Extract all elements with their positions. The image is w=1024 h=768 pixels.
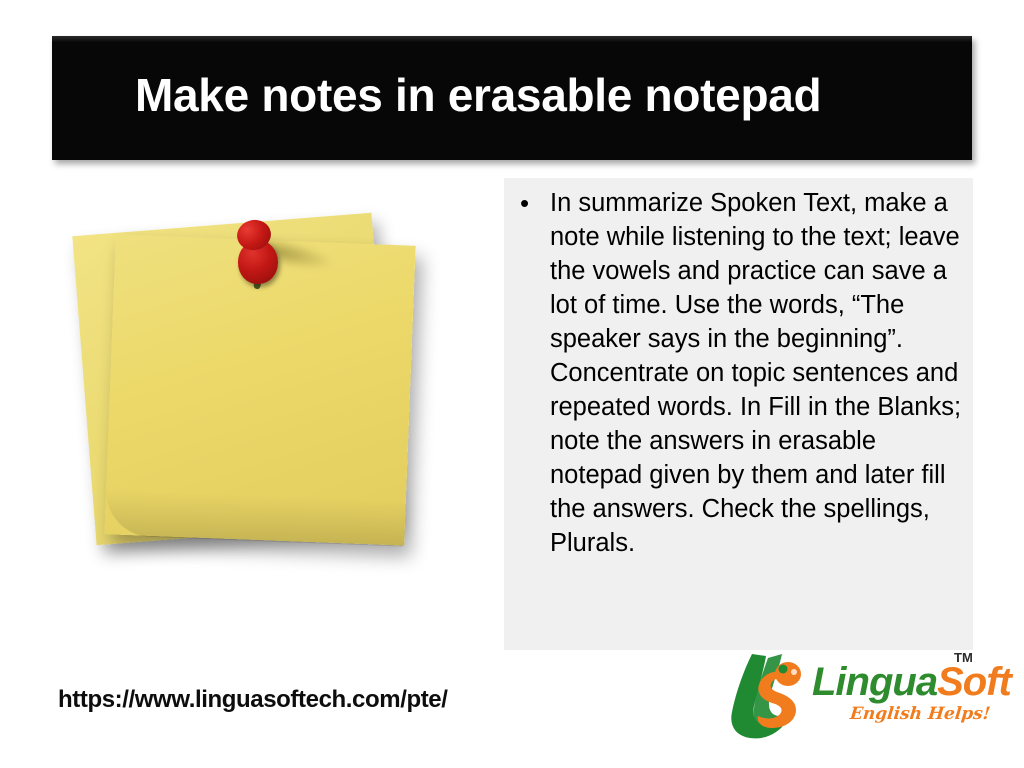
logo-text-soft: Soft	[937, 660, 1011, 704]
ls-monogram-icon	[722, 648, 818, 744]
slide-canvas: Make notes in erasable notepad • In summ…	[0, 0, 1024, 768]
page-title: Make notes in erasable notepad	[135, 62, 955, 128]
title-bar: Make notes in erasable notepad	[52, 36, 972, 160]
logo-text-lingua: Lingua	[812, 660, 937, 704]
pushpin-icon	[224, 218, 294, 298]
sticky-notes-illustration	[62, 212, 482, 612]
logo-tagline: English Helps!	[849, 704, 991, 724]
content-panel: • In summarize Spoken Text, make a note …	[504, 178, 973, 650]
list-item: • In summarize Spoken Text, make a note …	[512, 186, 970, 560]
bullet-text: In summarize Spoken Text, make a note wh…	[550, 186, 970, 560]
linguasoft-logo[interactable]: LinguaSoft TM English Helps!	[722, 646, 990, 750]
footer-url[interactable]: https://www.linguasoftech.com/pte/	[58, 686, 448, 714]
bullet-marker-icon: •	[512, 186, 550, 220]
trademark-mark: TM	[954, 650, 973, 665]
